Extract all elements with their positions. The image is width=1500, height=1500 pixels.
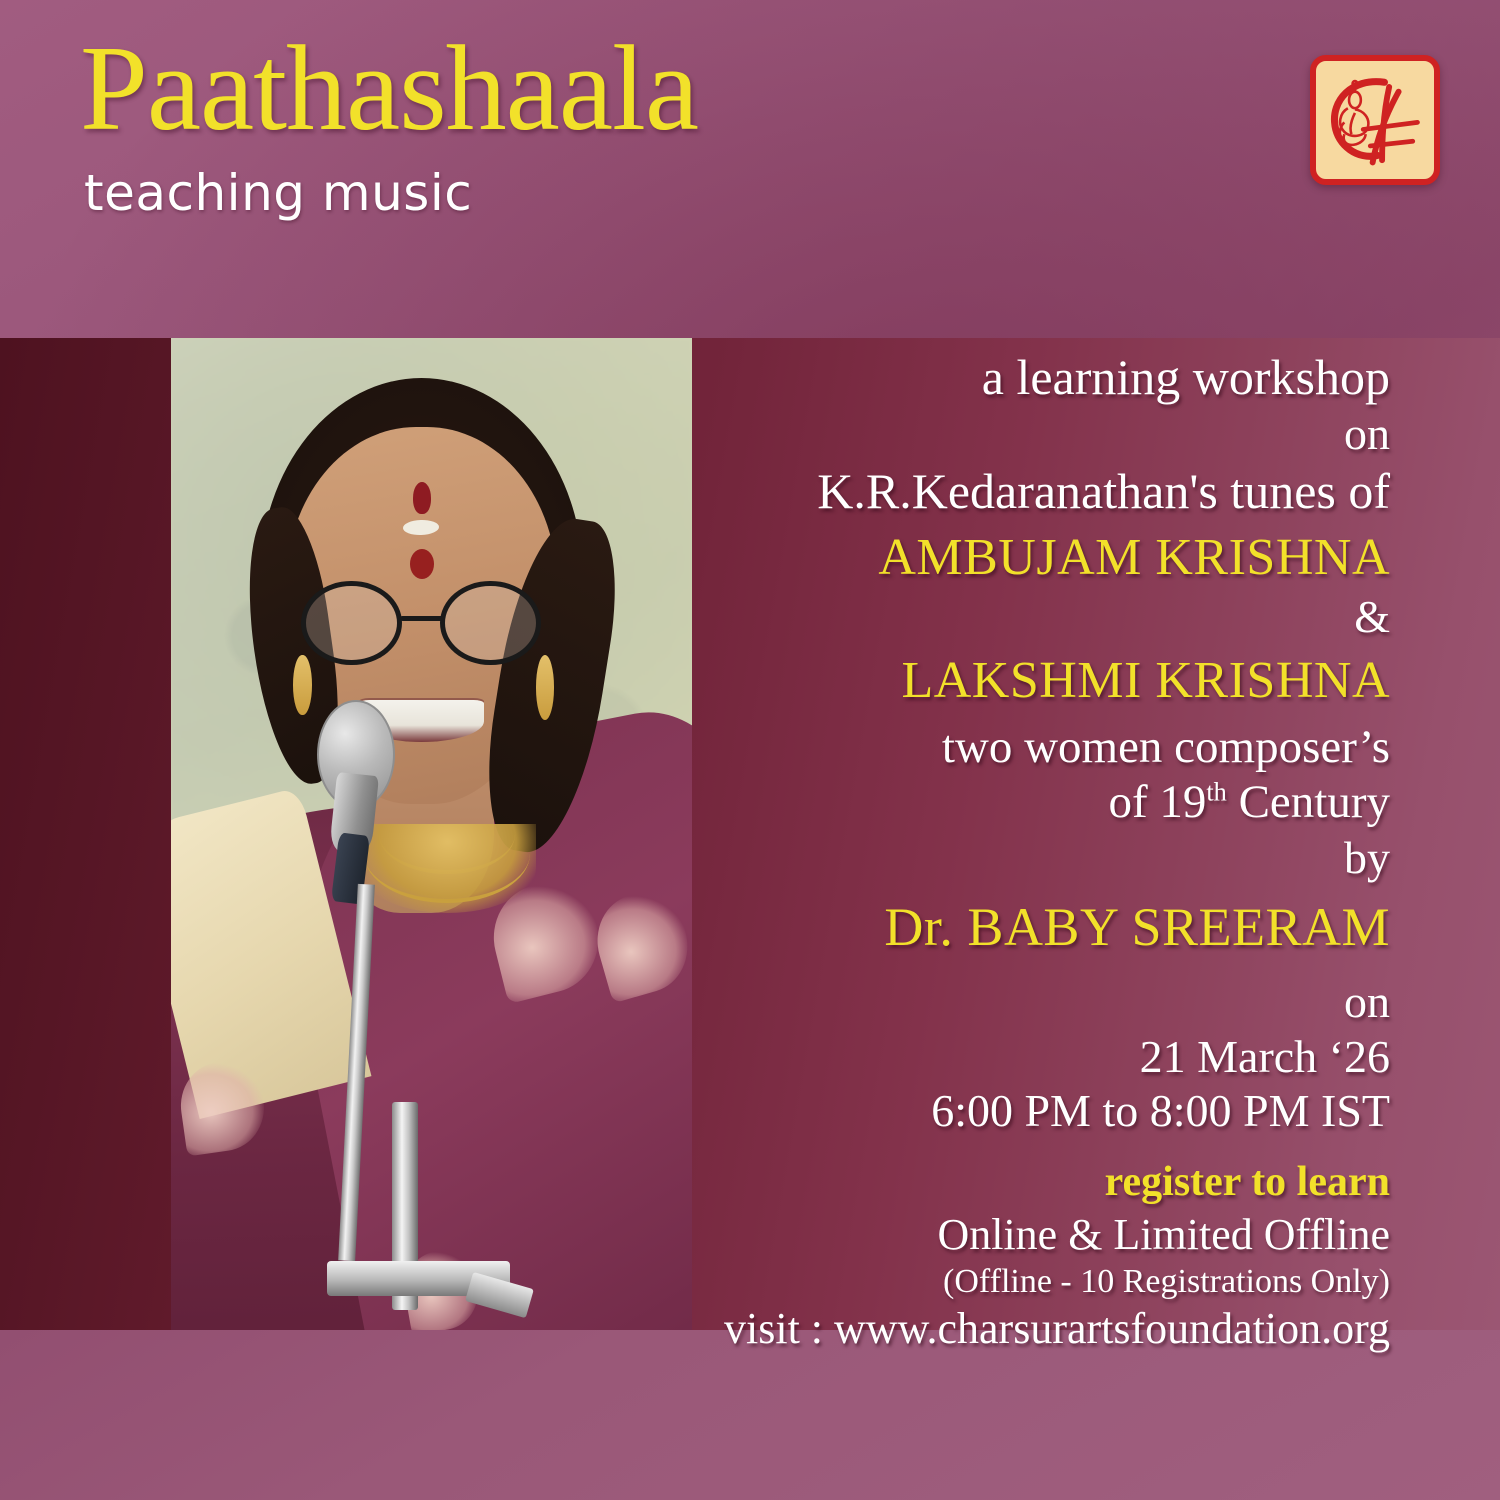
composer-descriptor: two women composer’s — [700, 722, 1390, 774]
page-title: Paathashaala — [80, 28, 698, 150]
necklace — [359, 824, 536, 913]
century-suffix: Century — [1227, 776, 1390, 828]
kumkum-mark — [413, 482, 431, 514]
lens-right — [440, 581, 541, 665]
attendance-mode: Online & Limited Offline — [700, 1211, 1390, 1259]
glasses-bridge — [400, 616, 443, 621]
register-cta[interactable]: register to learn — [700, 1159, 1390, 1205]
charsur-arts-foundation-logo-icon[interactable] — [1310, 55, 1440, 185]
poster-canvas: Paathashaala teaching music — [0, 0, 1500, 1500]
eyeglasses — [301, 581, 541, 665]
composer-name-2: LAKSHMI KRISHNA — [700, 652, 1390, 709]
earring-left — [293, 655, 311, 715]
event-date: 21 March ‘26 — [700, 1032, 1390, 1083]
earring-right — [536, 655, 554, 719]
lens-left — [301, 581, 402, 665]
connector-on: on — [700, 409, 1390, 460]
century-ordinal-suffix: th — [1206, 778, 1226, 807]
speaker-name: Dr. BABY SREERAM — [700, 898, 1390, 957]
workshop-details: a learning workshop on K.R.Kedaranathan'… — [700, 350, 1390, 1353]
event-time: 6:00 PM to 8:00 PM IST — [700, 1086, 1390, 1137]
attendance-note: (Offline - 10 Registrations Only) — [700, 1263, 1390, 1300]
workshop-lead-line: a learning workshop — [700, 350, 1390, 405]
connector-by: by — [700, 833, 1390, 884]
bindi — [410, 549, 434, 579]
century-prefix: of 19 — [1108, 776, 1206, 828]
website-link[interactable]: visit : www.charsurartsfoundation.org — [700, 1305, 1390, 1353]
ampersand: & — [700, 592, 1390, 643]
speaker-photo — [171, 338, 692, 1330]
connector-on-date: on — [700, 977, 1390, 1028]
century-descriptor: of 19th Century — [700, 777, 1390, 829]
tunes-credit: K.R.Kedaranathan's tunes of — [700, 464, 1390, 519]
composer-name-1: AMBUJAM KRISHNA — [700, 529, 1390, 586]
page-subtitle: teaching music — [84, 168, 472, 218]
poster-header: Paathashaala teaching music — [0, 0, 1500, 300]
